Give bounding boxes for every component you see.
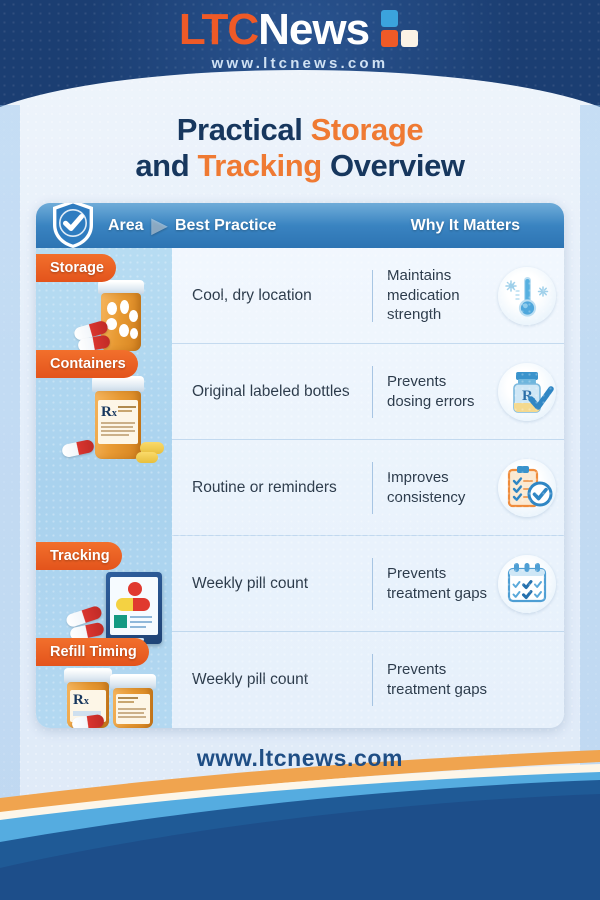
title-line1-plain: Practical (177, 112, 311, 147)
best-practice-cell: Weekly pill count (192, 574, 372, 593)
title-line2-plain-b: Overview (322, 148, 465, 183)
logo-square-top-left (381, 10, 398, 27)
header-area-label: Area (108, 217, 144, 235)
thermometer-snowflake-icon (498, 267, 556, 325)
table-row[interactable]: Weekly pill count Prevents treatment gap… (172, 632, 564, 728)
cell-divider (372, 366, 373, 418)
cell-divider (372, 270, 373, 322)
logo-ltc-text: LTC (179, 5, 258, 54)
brand-logo[interactable]: LTCNews www.ltcnews.com (0, 8, 600, 72)
table-header-row: Area ▶ Best Practice Why It Matters (36, 203, 564, 248)
cell-divider (372, 462, 373, 514)
best-practice-cell: Cool, dry location (192, 286, 372, 305)
illustration-tablet-device (66, 570, 170, 648)
cell-divider (372, 654, 373, 706)
shield-check-icon (50, 203, 96, 250)
table-row[interactable]: Routine or reminders Improves consistenc… (172, 440, 564, 536)
title-line2-plain-a: and (135, 148, 197, 183)
title-line2-accent: Tracking (197, 148, 321, 183)
right-rail (580, 105, 600, 805)
logo-news-text: News (258, 5, 369, 54)
why-it-matters-cell: Prevents dosing errors (387, 372, 498, 412)
why-it-matters-cell: Prevents treatment gaps (387, 564, 498, 604)
logo-square-bottom-right (401, 30, 418, 47)
why-it-matters-cell: Prevents treatment gaps (387, 660, 498, 700)
area-column: Storage Containers (36, 248, 172, 728)
clipboard-check-icon (498, 459, 556, 517)
logo-squares-icon (381, 10, 421, 50)
header-best-practice-label: Best Practice (175, 217, 276, 235)
logo-square-bottom-left (381, 30, 398, 47)
illustration-pill-bottle-storage (76, 280, 170, 352)
logo-wordmark: LTCNews (179, 8, 369, 52)
area-tag-storage[interactable]: Storage (36, 254, 116, 282)
illustration-two-rx-bottles: Rx (50, 666, 172, 728)
area-tag-refill-timing[interactable]: Refill Timing (36, 638, 149, 666)
title-line-2: and Tracking Overview (0, 148, 600, 184)
table-row[interactable]: Original labeled bottles Prevents dosing… (172, 344, 564, 440)
best-practice-cell: Original labeled bottles (192, 382, 372, 401)
comparison-table-card: Area ▶ Best Practice Why It Matters Stor… (36, 203, 564, 728)
why-it-matters-cell: Improves consistency (387, 468, 498, 508)
header-why-label: Why It Matters (411, 217, 520, 235)
logo-lockup: LTCNews (179, 8, 421, 52)
cell-divider (372, 558, 373, 610)
title-line1-accent: Storage (311, 112, 424, 147)
area-tag-containers[interactable]: Containers (36, 350, 138, 378)
best-practice-cell: Routine or reminders (192, 478, 372, 497)
table-row[interactable]: Cool, dry location Maintains medication … (172, 248, 564, 344)
area-tag-tracking[interactable]: Tracking (36, 542, 122, 570)
illustration-labeled-rx-bottle: Rx (66, 376, 170, 462)
best-practice-cell: Weekly pill count (192, 670, 372, 689)
why-icon-placeholder (498, 651, 556, 709)
title-line-1: Practical Storage (0, 112, 600, 148)
table-rows: Cool, dry location Maintains medication … (172, 248, 564, 728)
left-rail (0, 105, 20, 805)
page-title: Practical Storage and Tracking Overview (0, 112, 600, 184)
table-row[interactable]: Weekly pill count Prevents treatment gap… (172, 536, 564, 632)
why-it-matters-cell: Maintains medication strength (387, 266, 498, 325)
footer-url[interactable]: www.ltcnews.com (0, 745, 600, 772)
rx-bottle-check-icon: R x (498, 363, 556, 421)
calendar-check-icon (498, 555, 556, 613)
table-body: Storage Containers (36, 248, 564, 728)
logo-url[interactable]: www.ltcnews.com (0, 55, 600, 72)
header-arrow-icon: ▶ (152, 216, 167, 236)
bottom-wave-decoration (0, 750, 600, 900)
infographic-poster: LTCNews www.ltcnews.com Practical Storag… (0, 0, 600, 900)
